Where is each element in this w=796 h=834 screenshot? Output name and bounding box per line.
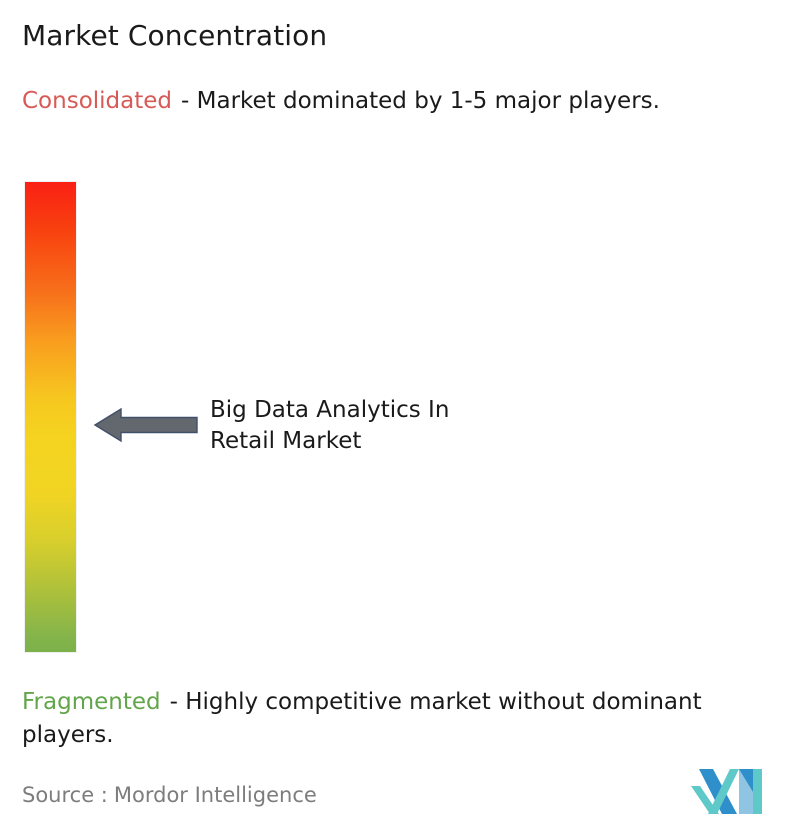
callout-label-line2: Retail Market <box>210 426 610 457</box>
legend-fragmented: Fragmented- Highly competitive market wi… <box>22 686 792 752</box>
market-concentration-infographic: Market Concentration Consolidated- Marke… <box>0 0 796 834</box>
mordor-intelligence-logo <box>691 769 763 814</box>
legend-consolidated-keyword: Consolidated <box>22 88 172 114</box>
source-attribution: Source :Mordor Intelligence <box>22 781 317 809</box>
source-label: Source : <box>22 783 108 807</box>
legend-fragmented-keyword: Fragmented <box>22 689 161 715</box>
source-value: Mordor Intelligence <box>114 783 317 807</box>
arrow-left-icon <box>95 409 197 441</box>
legend-consolidated: Consolidated- Market dominated by 1-5 ma… <box>22 85 778 118</box>
callout-label-line1: Big Data Analytics In <box>210 395 610 426</box>
callout-label: Big Data Analytics In Retail Market <box>210 395 610 457</box>
callout-arrow <box>93 404 199 446</box>
concentration-gradient-bar <box>25 182 76 652</box>
page-title: Market Concentration <box>22 19 327 53</box>
logo-shape-teal-right <box>753 769 762 814</box>
legend-consolidated-description: - Market dominated by 1-5 major players. <box>181 88 660 114</box>
